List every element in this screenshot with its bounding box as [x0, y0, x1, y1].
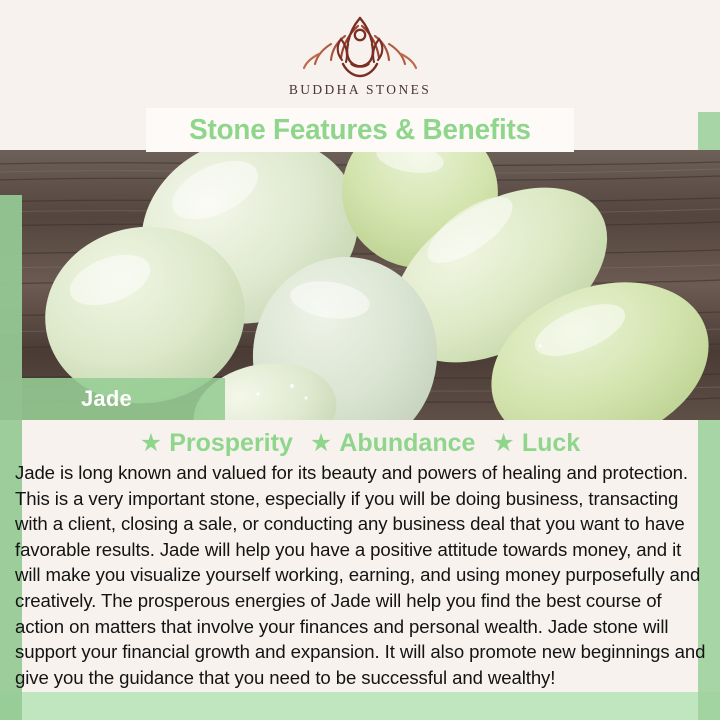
stone-benefits-poster: BUDDHA STONES Stone Features & Benefits	[0, 0, 720, 720]
brand-header: BUDDHA STONES	[0, 0, 720, 112]
keyword-luck: Luck	[522, 429, 580, 458]
frame-bottom-accent	[0, 692, 720, 720]
stone-name-label: Jade	[81, 386, 132, 412]
star-icon: ★	[310, 431, 332, 456]
keyword-prosperity: Prosperity	[169, 429, 293, 458]
star-icon: ★	[492, 431, 514, 456]
lotus-meditation-icon	[301, 14, 419, 80]
page-title: Stone Features & Benefits	[189, 114, 531, 147]
brand-logo: BUDDHA STONES	[289, 14, 431, 98]
keyword-row: ★ Prosperity ★ Abundance ★ Luck	[0, 429, 720, 458]
brand-name: BUDDHA STONES	[289, 82, 431, 98]
stone-description: Jade is long known and valued for its be…	[15, 460, 709, 690]
title-banner: Stone Features & Benefits	[146, 108, 574, 152]
keyword-abundance: Abundance	[339, 429, 475, 458]
star-icon: ★	[140, 431, 162, 456]
stone-name-bar: Jade	[22, 378, 225, 420]
